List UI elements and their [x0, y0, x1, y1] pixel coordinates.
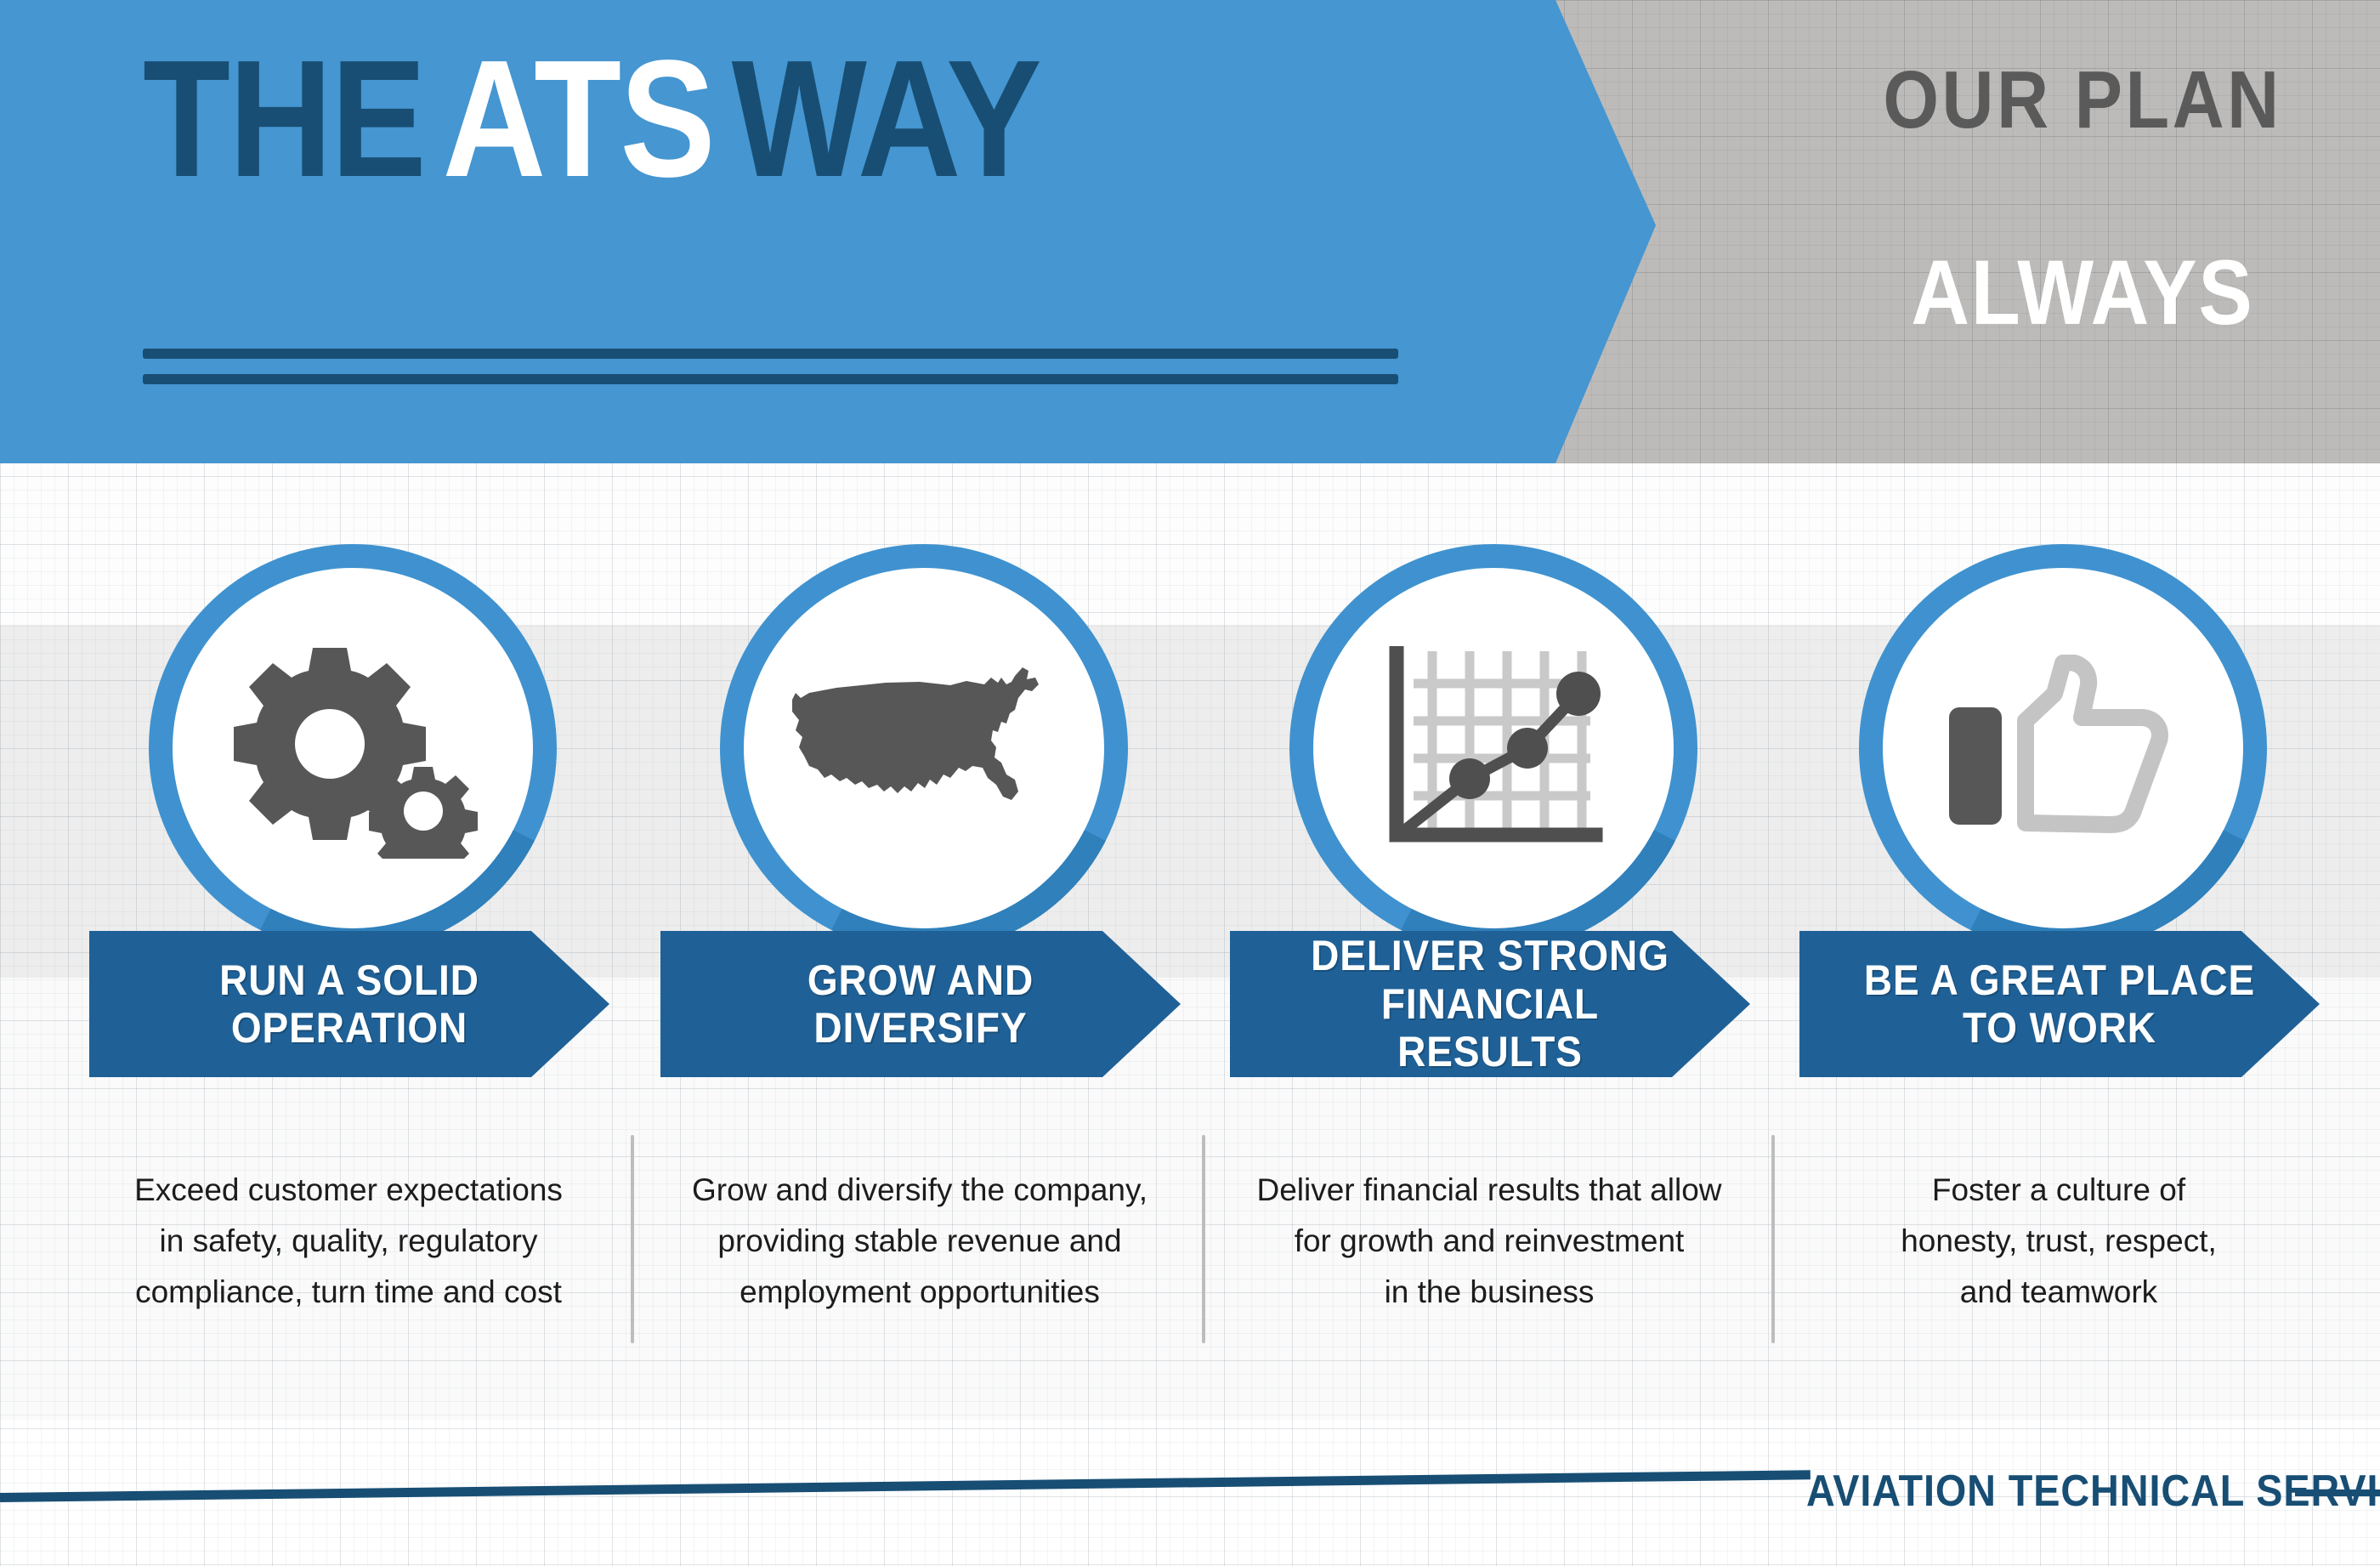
pillar-description: Exceed customer expectations in safety, … — [93, 1165, 603, 1318]
pillars-row: RUN A SOLID OPERATION Exceed customer ex… — [0, 0, 2380, 1566]
pillar-grow-and-diversify[interactable]: GROW AND DIVERSIFY Grow and diversify th… — [656, 0, 1217, 1566]
infographic-canvas: THEATSWAY OUR PLAN ALWAYS RUN A SOLID OP… — [0, 0, 2380, 1566]
pillar-deliver-strong-financial-results[interactable]: DELIVER STRONG FINANCIAL RESULTS Deliver… — [1226, 0, 1787, 1566]
pillar-banner[interactable]: DELIVER STRONG FINANCIAL RESULTS — [1230, 931, 1750, 1077]
pillar-banner-label: GROW AND DIVERSIFY — [717, 956, 1124, 1053]
column-divider — [1771, 1135, 1775, 1343]
pillar-banner[interactable]: BE A GREAT PLACE TO WORK — [1799, 931, 2320, 1077]
pillar-description: Grow and diversify the company, providin… — [665, 1165, 1175, 1318]
pillar-description: Foster a culture of honesty, trust, resp… — [1804, 1165, 2314, 1318]
usa-map-icon — [720, 544, 1128, 952]
pillar-banner-label: RUN A SOLID OPERATION — [146, 956, 552, 1053]
pillar-description: Deliver financial results that allow for… — [1234, 1165, 1744, 1318]
pillar-banner-label: DELIVER STRONG FINANCIAL RESULTS — [1287, 932, 1693, 1076]
pillar-banner[interactable]: RUN A SOLID OPERATION — [89, 931, 609, 1077]
column-divider — [1202, 1135, 1205, 1343]
footer-brand-name: AVIATION TECHNICAL SERVICES — [1806, 1469, 2380, 1513]
column-divider — [631, 1135, 634, 1343]
pillar-be-a-great-place-to-work[interactable]: BE A GREAT PLACE TO WORK Foster a cultur… — [1795, 0, 2356, 1566]
footer-rule-right — [2295, 1489, 2380, 1496]
growth-chart-icon — [1289, 544, 1697, 952]
pillar-run-a-solid-operation[interactable]: RUN A SOLID OPERATION Exceed customer ex… — [85, 0, 646, 1566]
pillar-banner-label: BE A GREAT PLACE TO WORK — [1856, 956, 2263, 1053]
thumbs-up-icon — [1859, 544, 2267, 952]
pillar-banner[interactable]: GROW AND DIVERSIFY — [660, 931, 1181, 1077]
gears-icon — [149, 544, 557, 952]
